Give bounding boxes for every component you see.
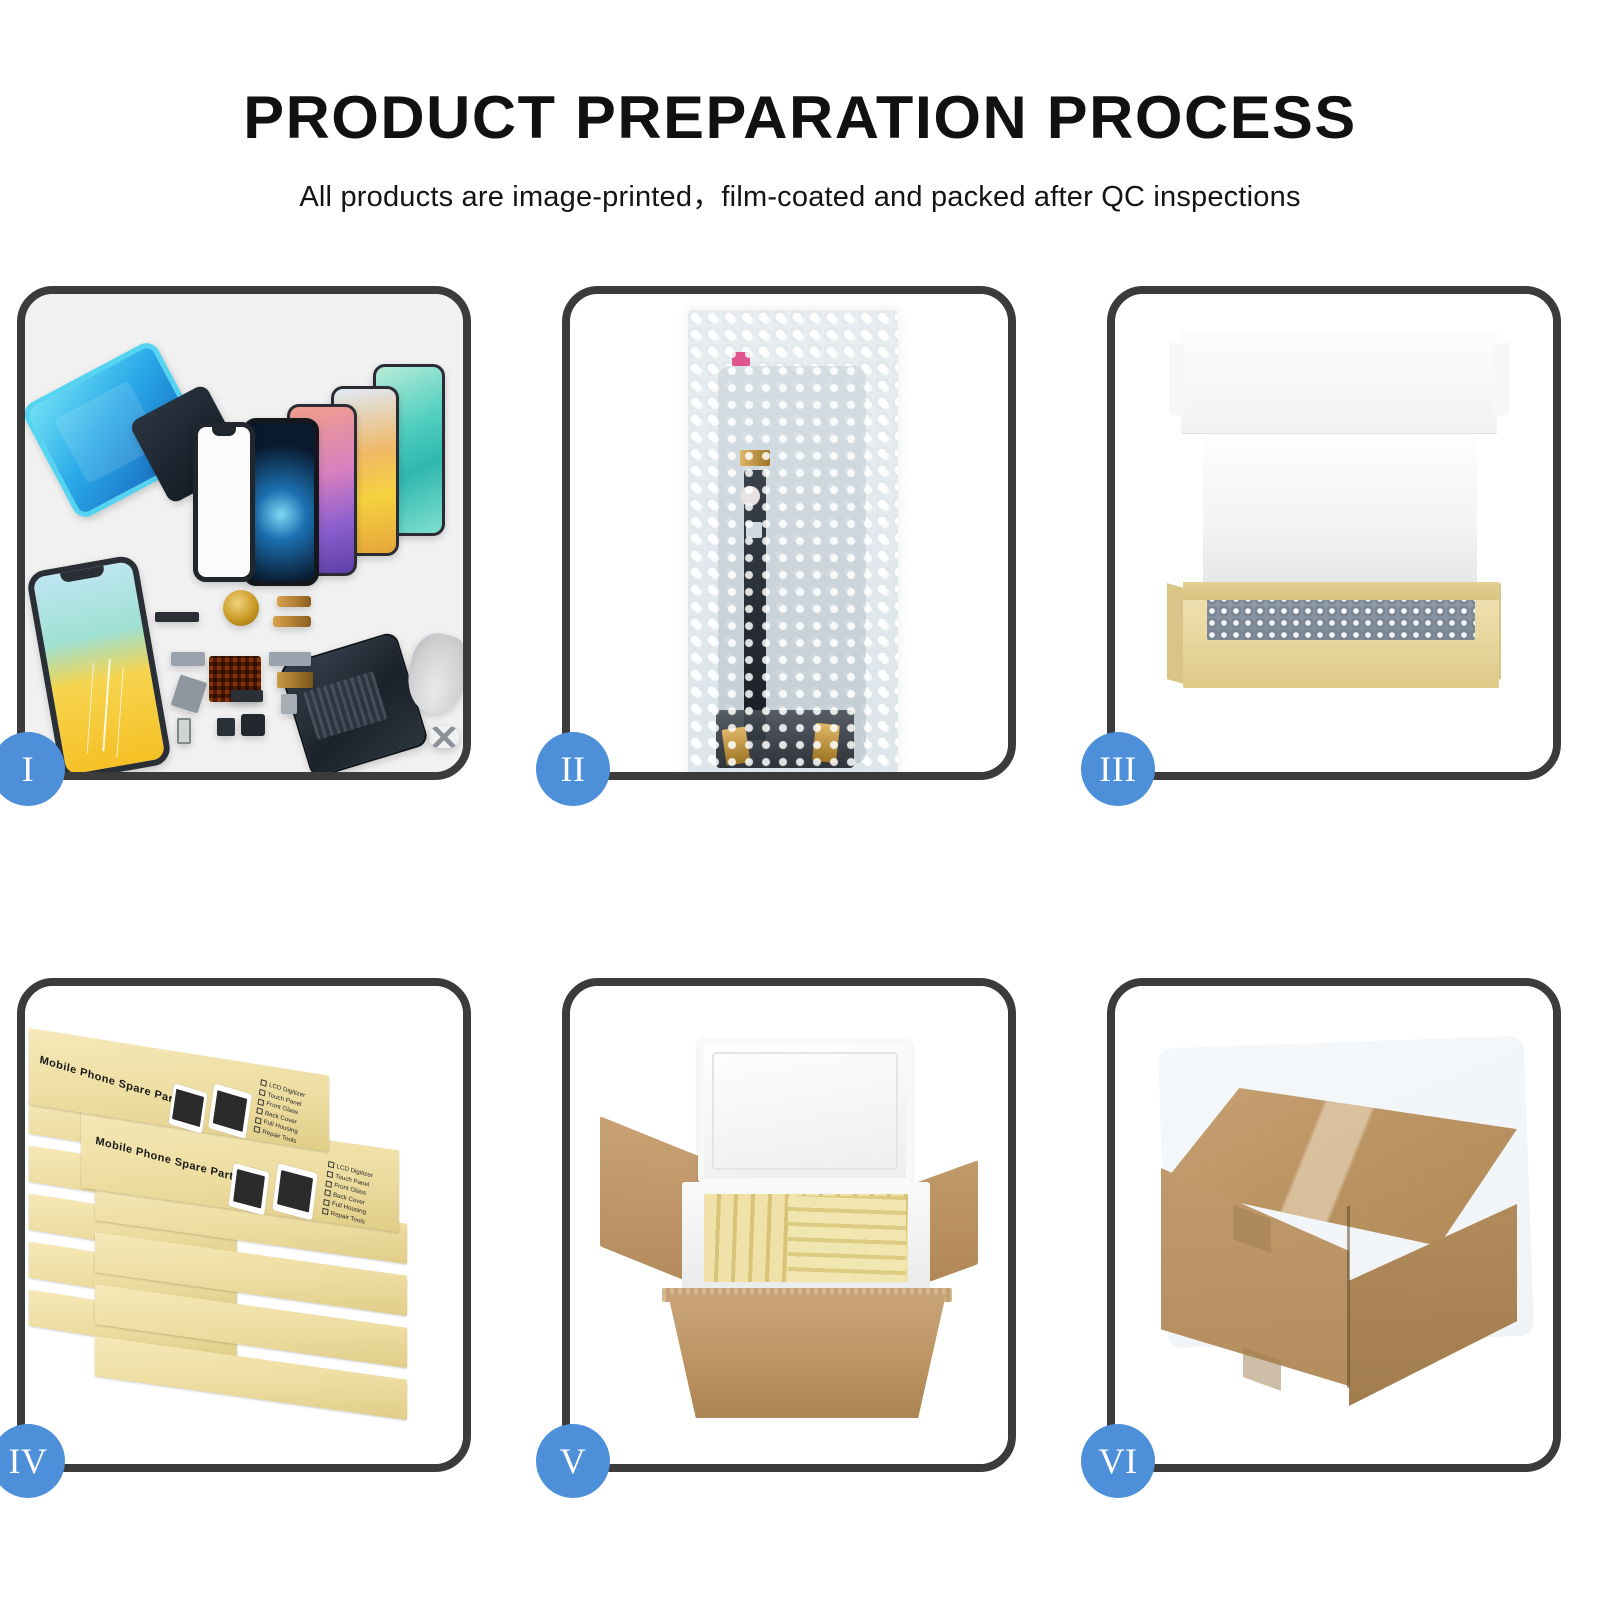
carton-body-icon xyxy=(668,1294,946,1418)
earpiece-mesh-icon xyxy=(155,612,199,622)
bubble-wrap-icon xyxy=(688,310,898,772)
gold-contact-icon xyxy=(722,727,751,766)
step-panel-6: VI xyxy=(1107,978,1561,1472)
flex-cable-icon xyxy=(277,672,313,688)
step-panel-2: II xyxy=(562,286,1016,780)
step-image-6 xyxy=(1115,986,1553,1464)
page-subtitle: All products are image-printed，film-coat… xyxy=(0,173,1600,215)
wireless-coil-icon xyxy=(223,590,259,626)
qc-sticker-icon xyxy=(732,352,750,366)
step-panel-5: V xyxy=(562,978,1016,1472)
gold-contact-icon xyxy=(812,723,840,763)
ic-pad-icon xyxy=(746,522,762,538)
product-preparation-infographic: PRODUCT PREPARATION PROCESS All products… xyxy=(0,0,1600,1600)
camera-module-icon xyxy=(217,718,235,736)
lcd-flex-cable-icon xyxy=(744,470,766,740)
packed-retail-boxes-icon xyxy=(788,1196,906,1282)
step-numeral: V xyxy=(560,1443,587,1479)
step-badge-5: V xyxy=(536,1424,610,1498)
vibrator-icon xyxy=(281,694,297,714)
connector-icon xyxy=(171,674,208,713)
bubble-wrapped-screen-illustration xyxy=(570,294,1008,772)
step-image-3 xyxy=(1115,294,1553,772)
raw-parts-illustration xyxy=(25,294,463,772)
foam-lid-icon xyxy=(698,1038,912,1184)
carton-edge-icon xyxy=(1347,1206,1350,1388)
foam-lined-box-illustration xyxy=(1115,294,1553,772)
step-badge-6: VI xyxy=(1081,1424,1155,1498)
step-image-1 xyxy=(25,294,463,772)
flex-cable-icon xyxy=(273,616,311,627)
step-numeral: II xyxy=(561,751,586,787)
page-title: PRODUCT PREPARATION PROCESS xyxy=(0,86,1600,149)
step-numeral: VI xyxy=(1099,1443,1138,1479)
gold-contact-icon xyxy=(740,450,770,466)
process-row-top: I xyxy=(17,286,1583,780)
flex-cable-icon xyxy=(277,596,311,607)
stacked-boxes-illustration: Mobile Phone Spare Parts LCD Digitizer T… xyxy=(25,986,463,1464)
proximity-sensor-icon xyxy=(740,486,760,506)
box-lid-icon xyxy=(1181,330,1497,434)
step-badge-1: I xyxy=(0,732,65,806)
step-badge-4: IV xyxy=(0,1424,65,1498)
step-image-5 xyxy=(570,986,1008,1464)
battery-connector-icon xyxy=(231,690,263,702)
step-panel-1: I xyxy=(17,286,471,780)
process-step-grid: I xyxy=(17,286,1583,1472)
speaker-icon xyxy=(241,714,265,736)
process-row-bottom: Mobile Phone Spare Parts LCD Digitizer T… xyxy=(17,978,1583,1472)
step-panel-3: III xyxy=(1107,286,1561,780)
box-label-thumb xyxy=(272,1163,318,1220)
front-glass-icon xyxy=(193,422,255,582)
screws-icon xyxy=(429,726,459,748)
step-badge-3: III xyxy=(1081,732,1155,806)
box-label-thumb xyxy=(228,1163,269,1215)
header: PRODUCT PREPARATION PROCESS All products… xyxy=(0,0,1600,215)
lcd-assembly-icon xyxy=(718,366,866,764)
sealed-carton-illustration xyxy=(1137,1036,1541,1436)
step-numeral: III xyxy=(1099,751,1136,787)
step-numeral: I xyxy=(22,751,35,787)
box-label-checklist: LCD Digitizer Touch Panel Front Glass Ba… xyxy=(322,1160,374,1228)
step-panel-4: Mobile Phone Spare Parts LCD Digitizer T… xyxy=(17,978,471,1472)
connector-icon xyxy=(269,652,311,666)
step-image-4: Mobile Phone Spare Parts LCD Digitizer T… xyxy=(25,986,463,1464)
step-numeral: IV xyxy=(9,1443,48,1479)
foam-sheet-icon xyxy=(1203,434,1477,582)
master-carton-illustration xyxy=(570,986,1008,1464)
step-badge-2: II xyxy=(536,732,610,806)
step-image-2 xyxy=(570,294,1008,772)
connector-icon xyxy=(171,652,205,666)
box-front-lip-icon xyxy=(1183,582,1499,600)
sim-tray-icon xyxy=(177,718,191,744)
